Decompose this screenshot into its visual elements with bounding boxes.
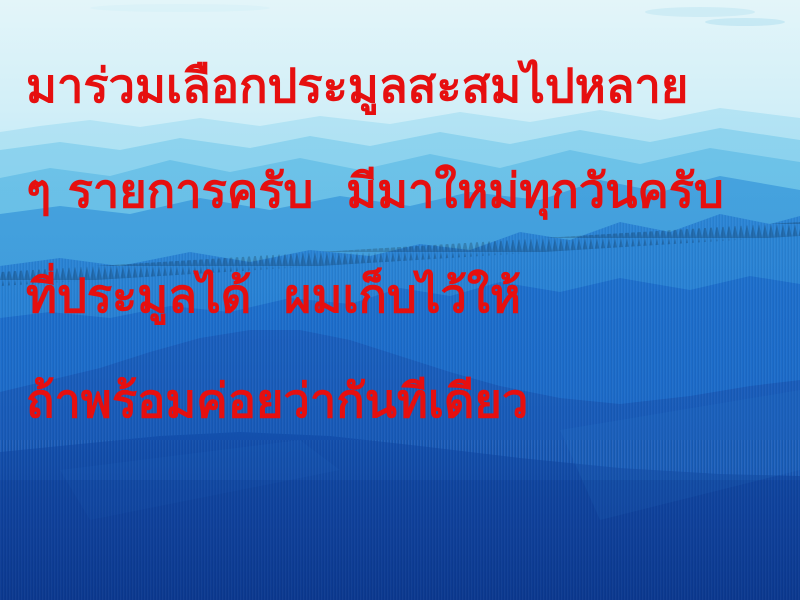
image-canvas: มาร่วมเลือกประมูลสะสมไปหลาย ๆ รายการครับ…	[0, 0, 800, 600]
caption-line-4: ถ้าพร้อมค่อยว่ากันทีเดียว	[26, 349, 800, 454]
caption-overlay: มาร่วมเลือกประมูลสะสมไปหลาย ๆ รายการครับ…	[0, 0, 800, 600]
caption-line-2: ๆ รายการครับ มีมาใหม่ทุกวันครับ	[26, 139, 800, 244]
caption-line-1: มาร่วมเลือกประมูลสะสมไปหลาย	[26, 34, 800, 139]
caption-line-3: ที่ประมูลได้ ผมเก็บไว้ให้	[26, 244, 800, 349]
